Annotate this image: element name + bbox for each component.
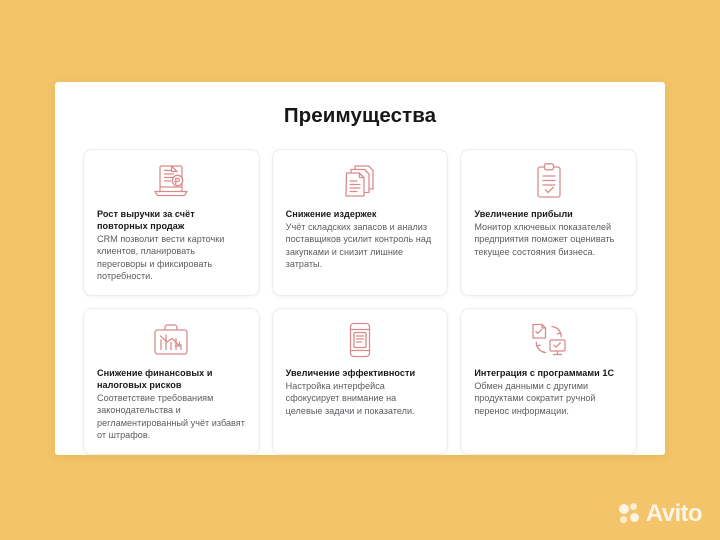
- benefit-card[interactable]: Рост выручки за счёт повторных продаж CR…: [83, 149, 260, 296]
- avito-watermark: Avito: [619, 502, 702, 526]
- benefit-card-title: Снижение финансовых и налоговых рисков: [97, 367, 246, 391]
- benefit-card-title: Увеличение прибыли: [474, 208, 623, 220]
- slide-panel: Преимущества Рост выручки з: [55, 82, 665, 455]
- slide-content: Преимущества Рост выручки з: [55, 82, 665, 455]
- benefit-card-body: Монитор ключевых показателей предприятия…: [474, 221, 623, 259]
- benefits-grid: Рост выручки за счёт повторных продаж CR…: [83, 149, 637, 455]
- benefit-card-body: Соответствие требованиям законодательств…: [97, 392, 246, 442]
- benefit-card-body: CRM позволит вести карточки клиентов, пл…: [97, 233, 246, 283]
- benefit-card[interactable]: Увеличение эффективности Настройка интер…: [272, 308, 449, 455]
- data-exchange-sync-icon: [474, 320, 623, 360]
- benefit-card-body: Учёт складских запасов и анализ поставщи…: [286, 221, 435, 271]
- benefit-card[interactable]: Увеличение прибыли Монитор ключевых пока…: [460, 149, 637, 296]
- page-title: Преимущества: [83, 104, 637, 129]
- benefit-card[interactable]: Снижение издержек Учёт складских запасов…: [272, 149, 449, 296]
- benefit-card-title: Снижение издержек: [286, 208, 435, 220]
- benefit-card-title: Увеличение эффективности: [286, 367, 435, 379]
- benefit-card-body: Настройка интерфейса сфокусирует внимани…: [286, 380, 435, 418]
- avito-watermark-label: Avito: [646, 502, 702, 526]
- avito-logo-icon: [619, 503, 641, 525]
- laptop-document-ruble-icon: [97, 161, 246, 201]
- benefit-card-body: Обмен данными с другими продуктами сокра…: [474, 380, 623, 418]
- stacked-documents-icon: [286, 161, 435, 201]
- benefit-card-title: Интеграция с программами 1С: [474, 367, 623, 379]
- briefcase-chart-down-icon: [97, 320, 246, 360]
- clipboard-check-icon: [474, 161, 623, 201]
- smartphone-document-icon: [286, 320, 435, 360]
- benefit-card[interactable]: Интеграция с программами 1С Обмен данным…: [460, 308, 637, 455]
- benefit-card-title: Рост выручки за счёт повторных продаж: [97, 208, 246, 232]
- benefit-card[interactable]: Снижение финансовых и налоговых рисков С…: [83, 308, 260, 455]
